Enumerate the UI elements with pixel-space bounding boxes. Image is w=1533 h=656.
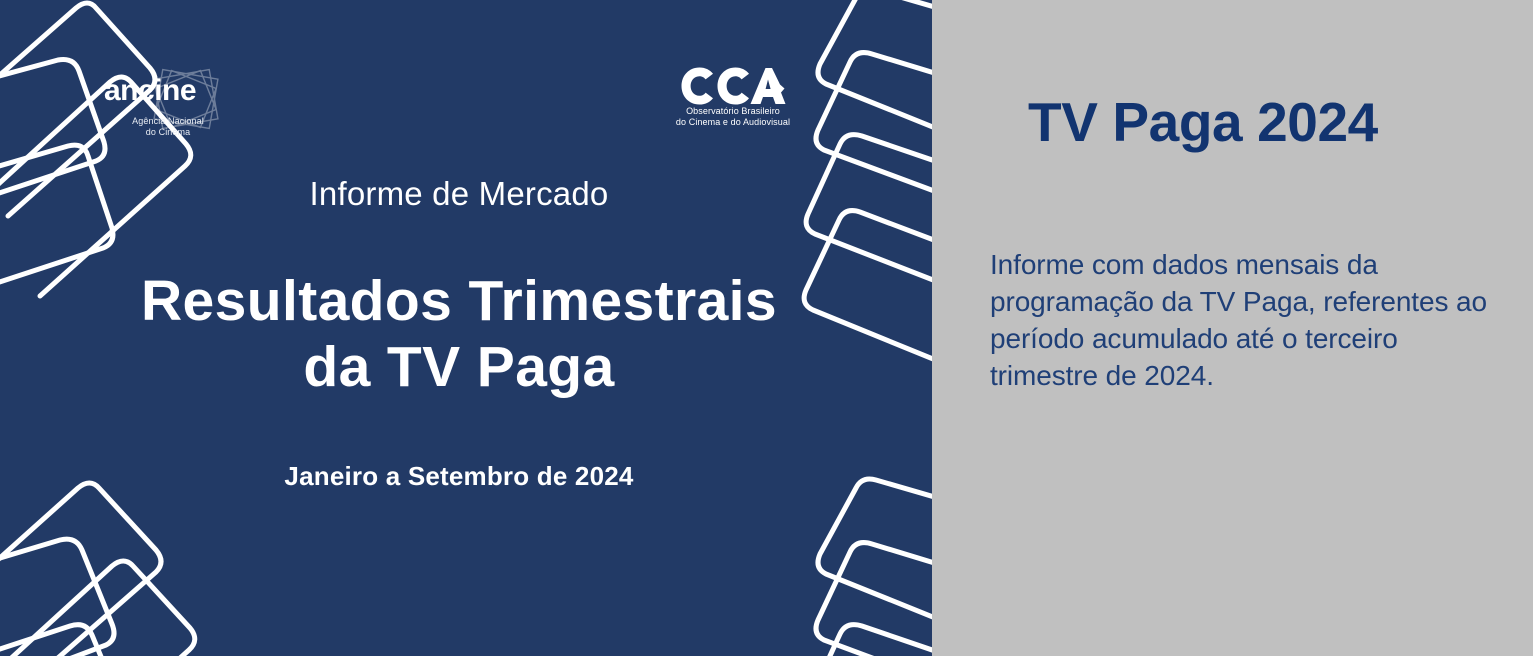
ancine-logo: ancine Agência Nacional do Cinema <box>104 62 232 146</box>
cover-period: Janeiro a Setembro de 2024 <box>0 461 918 492</box>
oca-subtitle: Observatório Brasileiro do Cinema e do A… <box>674 106 792 128</box>
oca-subtitle-line1: Observatório Brasileiro <box>686 106 780 116</box>
info-title: TV Paga 2024 <box>1028 90 1378 154</box>
ancine-wordmark: ancine <box>104 76 214 106</box>
oca-subtitle-line2: do Cinema e do Audiovisual <box>676 117 790 127</box>
cover-thumbnail[interactable]: ancine Agência Nacional do Cinema Obs <box>0 0 932 656</box>
ancine-tagline: Agência Nacional do Cinema <box>104 116 232 138</box>
cover-title: Resultados Trimestrais da TV Paga <box>0 268 918 400</box>
cover-kicker: Informe de Mercado <box>0 175 918 213</box>
info-description: Informe com dados mensais da programação… <box>990 246 1500 394</box>
ancine-tagline-line2: do Cinema <box>146 127 190 137</box>
oca-logo: Observatório Brasileiro do Cinema e do A… <box>674 66 792 140</box>
cover-title-line1: Resultados Trimestrais <box>141 269 777 333</box>
oca-logotype-icon <box>680 66 786 106</box>
info-panel: TV Paga 2024 Informe com dados mensais d… <box>932 0 1533 656</box>
publication-card: ancine Agência Nacional do Cinema Obs <box>0 0 1533 656</box>
ancine-tagline-line1: Agência Nacional <box>132 116 204 126</box>
cover-title-line2: da TV Paga <box>303 335 614 399</box>
